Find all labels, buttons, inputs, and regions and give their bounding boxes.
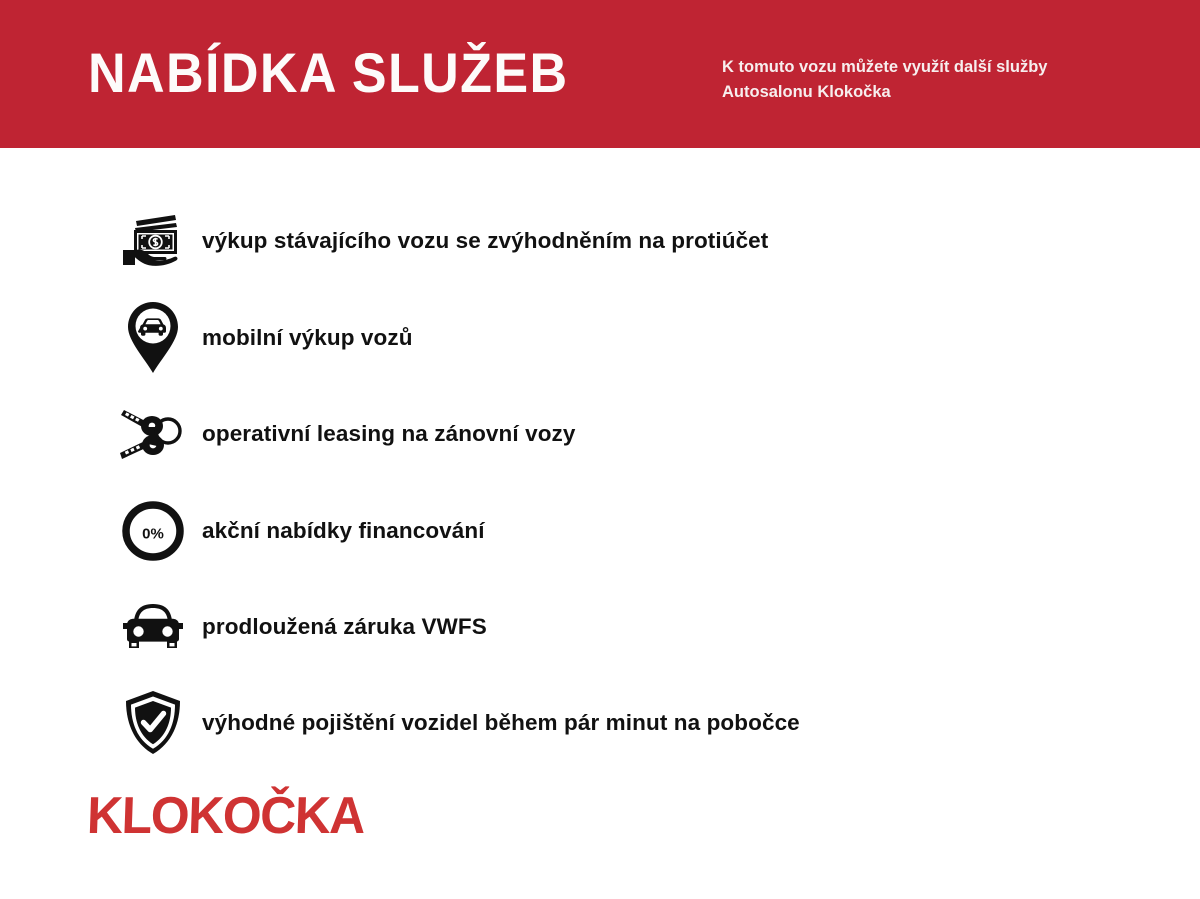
header-subtitle-line-1: K tomuto vozu můžete využít další služby — [722, 55, 1142, 80]
list-item-label: prodloužená záruka VWFS — [202, 614, 487, 640]
header-banner: NABÍDKA SLUŽEB K tomuto vozu můžete využ… — [0, 0, 1200, 148]
car-keys-icon — [118, 394, 188, 474]
list-item-label: akční nabídky financování — [202, 518, 485, 544]
zero-percent-circle-icon: 0% — [118, 491, 188, 571]
list-item-label: operativní leasing na zánovní vozy — [202, 421, 576, 447]
klokocka-logo: KLOKOČKA — [86, 790, 365, 842]
list-item: prodloužená záruka VWFS — [118, 587, 487, 667]
list-item: výkup stávajícího vozu se zvýhodněním na… — [118, 201, 768, 281]
svg-text:0%: 0% — [142, 526, 164, 543]
hand-holding-cash-icon — [118, 201, 188, 281]
list-item-label: mobilní výkup vozů — [202, 325, 413, 351]
list-item: 0% akční nabídky financování — [118, 491, 485, 571]
page-title: NABÍDKA SLUŽEB — [88, 45, 569, 101]
list-item: mobilní výkup vozů — [118, 298, 413, 378]
header-subtitle: K tomuto vozu můžete využít další služby… — [722, 55, 1142, 105]
header-subtitle-line-2: Autosalonu Klokočka — [722, 80, 1142, 105]
list-item-label: výhodné pojištění vozidel během pár minu… — [202, 710, 800, 736]
list-item: operativní leasing na zánovní vozy — [118, 394, 576, 474]
list-item: výhodné pojištění vozidel během pár minu… — [118, 683, 800, 763]
map-pin-car-icon — [118, 298, 188, 378]
shield-check-icon — [118, 683, 188, 763]
list-item-label: výkup stávajícího vozu se zvýhodněním na… — [202, 228, 768, 254]
car-front-icon — [118, 587, 188, 667]
